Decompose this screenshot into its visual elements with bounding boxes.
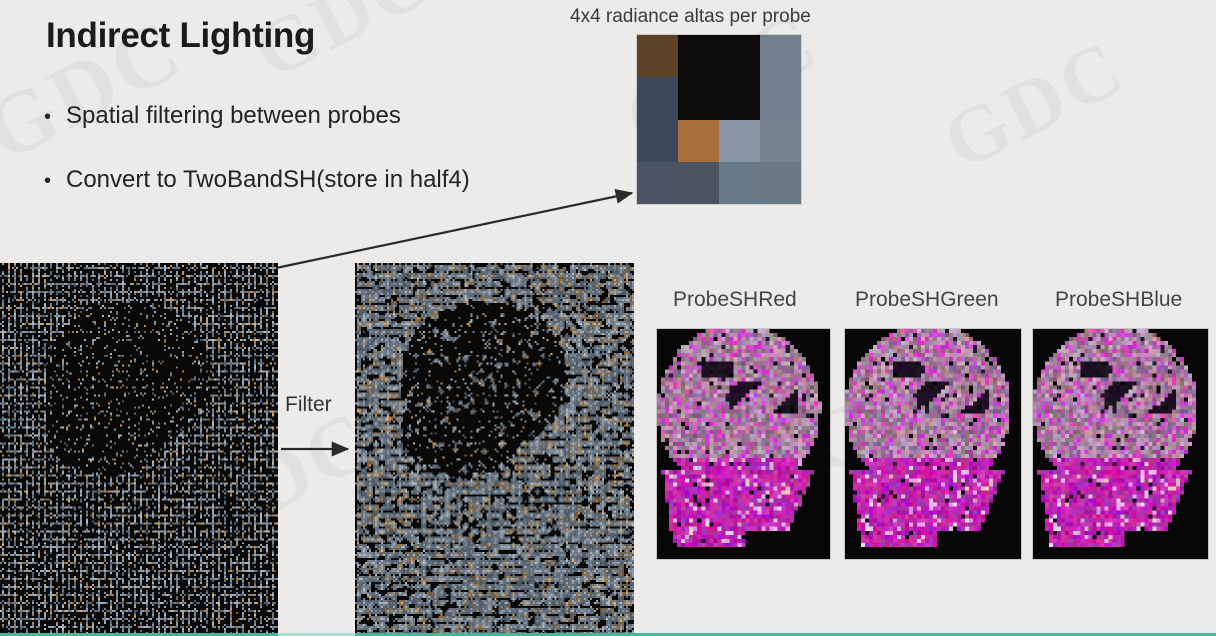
probe-sh-green-image	[845, 329, 1021, 559]
filter-step-label: Filter	[285, 393, 332, 417]
atlas-cell-3	[760, 35, 801, 77]
slide-canvas: GDC GDC GDC GDC GDC GDC Indirect Lightin…	[0, 0, 1216, 636]
bullet-text: Convert to TwoBandSH(store in half4)	[66, 166, 470, 194]
atlas-cell-6	[719, 77, 760, 119]
atlas-cell-2	[719, 35, 760, 77]
atlas-cell-12	[637, 162, 678, 204]
atlas-cell-0	[637, 35, 678, 77]
probe-sh-red-image	[657, 329, 830, 559]
page-title: Indirect Lighting	[46, 16, 315, 56]
filtered-probe-image	[355, 263, 634, 636]
atlas-cell-11	[760, 120, 801, 162]
probe-sh-red-label: ProbeSHRed	[673, 288, 797, 312]
atlas-cell-5	[678, 77, 719, 119]
watermark-text: GDC	[930, 22, 1140, 189]
atlas-cell-13	[678, 162, 719, 204]
probe-sh-blue-label: ProbeSHBlue	[1055, 288, 1182, 312]
atlas-cell-4	[637, 77, 678, 119]
atlas-cell-14	[719, 162, 760, 204]
bullet-marker-icon: •	[44, 171, 66, 191]
atlas-cell-9	[678, 120, 719, 162]
probe-sh-green-label: ProbeSHGreen	[855, 288, 999, 312]
atlas-cell-1	[678, 35, 719, 77]
probe-sh-blue-image	[1033, 329, 1208, 559]
atlas-cell-7	[760, 77, 801, 119]
atlas-cell-8	[637, 120, 678, 162]
bullet-item-1: • Spatial filtering between probes	[44, 102, 401, 130]
arrow-diagonal-up-right-icon	[276, 193, 632, 268]
bullet-item-2: • Convert to TwoBandSH(store in half4)	[44, 166, 470, 194]
atlas-caption: 4x4 radiance altas per probe	[570, 6, 811, 28]
bullet-marker-icon: •	[44, 107, 66, 127]
radiance-atlas-grid	[637, 35, 801, 204]
atlas-cell-10	[719, 120, 760, 162]
bullet-text: Spatial filtering between probes	[66, 102, 401, 130]
unfiltered-probe-image	[0, 263, 278, 636]
atlas-cell-15	[760, 162, 801, 204]
